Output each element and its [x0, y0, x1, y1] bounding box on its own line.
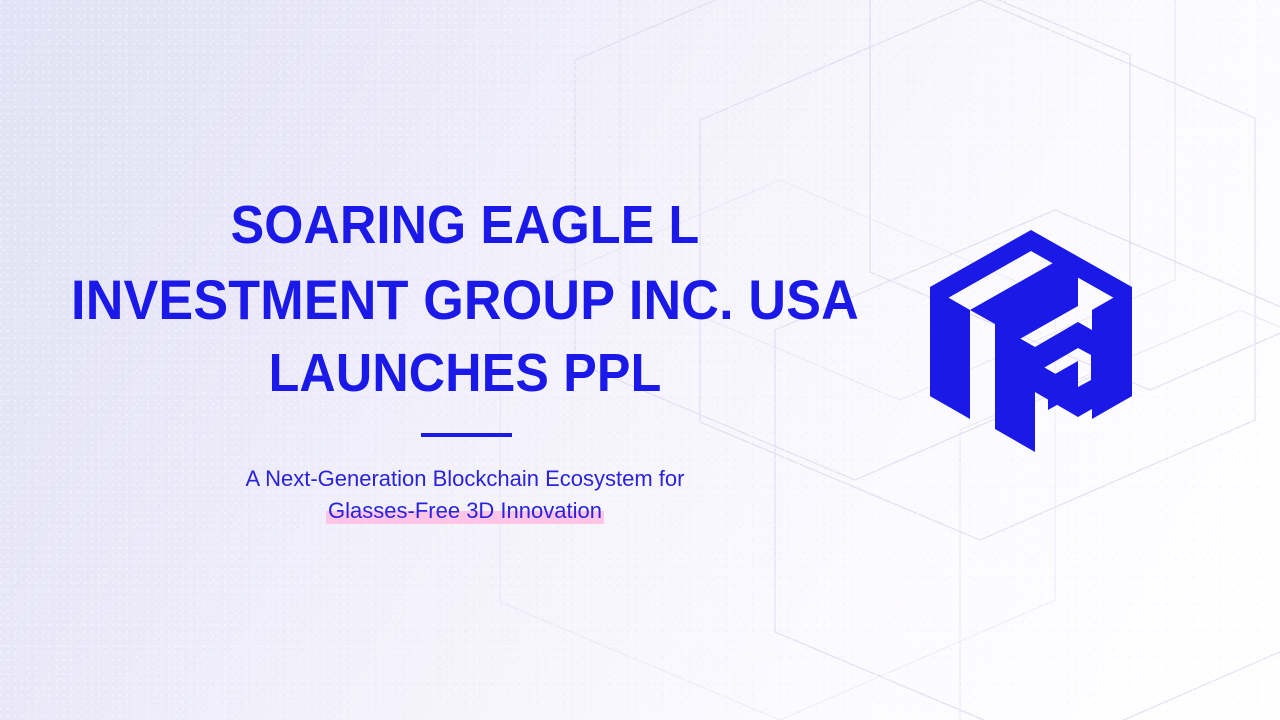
- subtitle-line-1: A Next-Generation Blockchain Ecosystem f…: [0, 464, 930, 493]
- ppl-hexagon-logo-icon: [928, 228, 1134, 454]
- headline-line-3: LAUNCHES PPL: [33, 346, 898, 400]
- divider-rule: [421, 433, 512, 437]
- headline-line-2: INVESTMENT GROUP INC. USA: [33, 272, 898, 328]
- press-release-slide: SOARING EAGLE L INVESTMENT GROUP INC. US…: [0, 0, 1280, 720]
- slide-content: SOARING EAGLE L INVESTMENT GROUP INC. US…: [0, 0, 1280, 720]
- headline-line-1: SOARING EAGLE L: [33, 198, 898, 252]
- subtitle-line-2: Glasses-Free 3D Innovation: [0, 496, 930, 525]
- subtitle-highlight: Glasses-Free 3D Innovation: [328, 496, 602, 525]
